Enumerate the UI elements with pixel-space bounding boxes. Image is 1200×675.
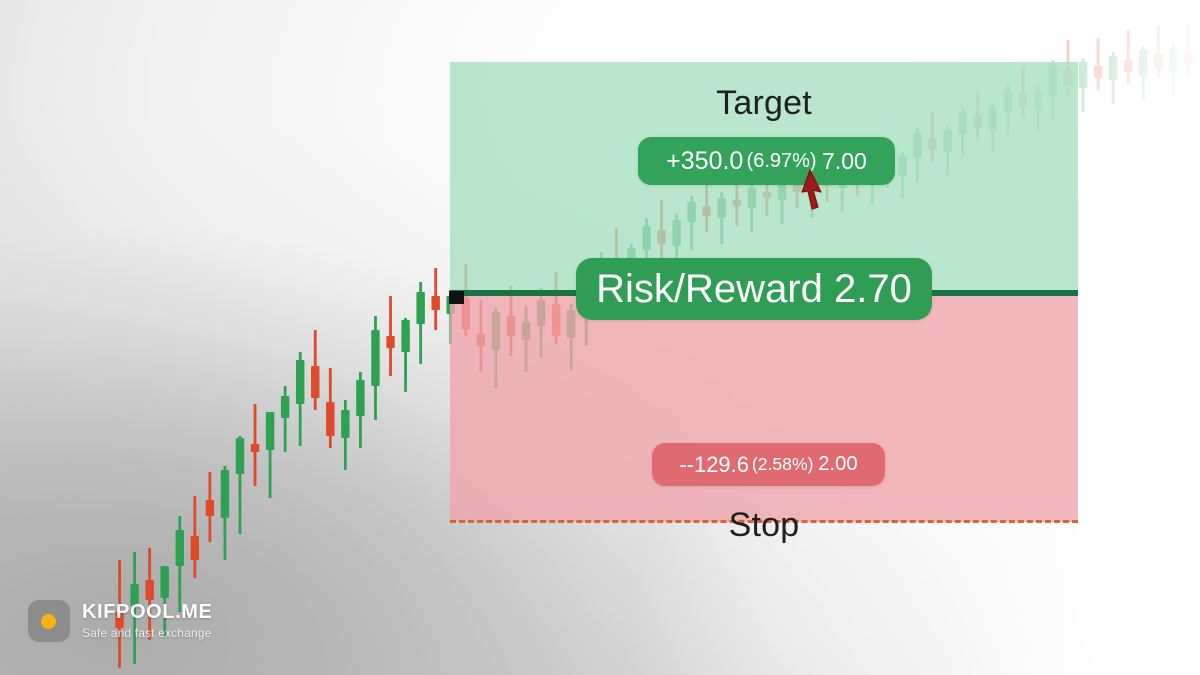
risk-reward-label: Risk/Reward 2.70 — [596, 267, 912, 312]
chart-screenshot: Target Stop +350.0 (6.97%) 7.00 --129.6 … — [0, 0, 1200, 675]
stop-caption: Stop — [450, 506, 1078, 545]
target-profit-badge[interactable]: +350.0 (6.97%) 7.00 — [638, 137, 895, 185]
brand-lockup: KIFPOOL.ME Safe and fast exchange — [28, 600, 212, 642]
stop-quantity: 2.00 — [816, 453, 857, 476]
entry-marker[interactable] — [449, 291, 464, 304]
cursor-arrow-icon — [797, 168, 831, 214]
wallet-logo-icon — [28, 600, 70, 642]
target-caption: Target — [450, 84, 1078, 123]
stop-loss-badge[interactable]: --129.6 (2.58%) 2.00 — [652, 443, 885, 486]
brand-name: KIFPOOL.ME — [82, 602, 212, 623]
target-amount: +350.0 — [666, 147, 743, 176]
brand-tagline: Safe and fast exchange — [82, 627, 212, 640]
wallet-logo-dot — [41, 614, 56, 629]
risk-reward-badge[interactable]: Risk/Reward 2.70 — [576, 258, 932, 320]
stop-amount: --129.6 — [679, 452, 749, 478]
stop-percent: (2.58%) — [749, 454, 816, 475]
